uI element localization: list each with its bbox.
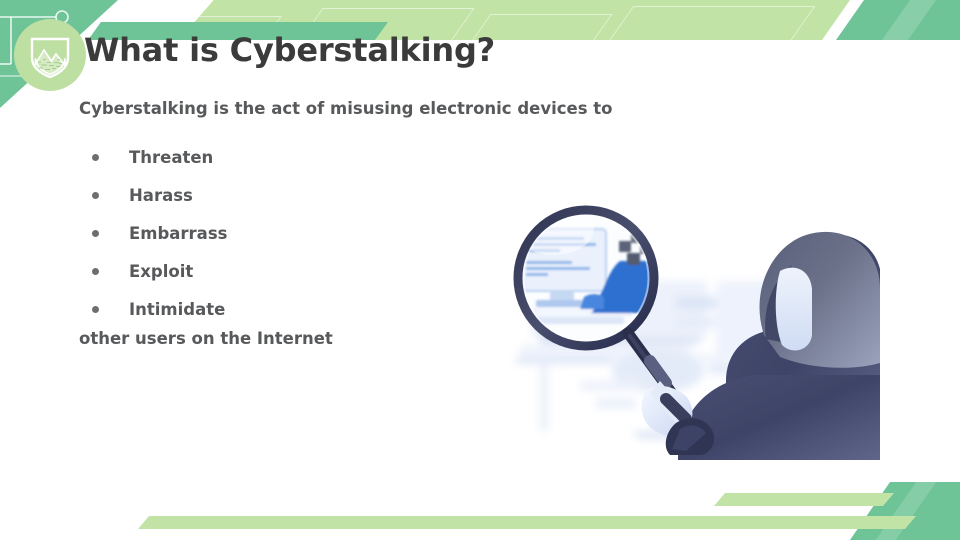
bottom-short-green-bar-upper bbox=[714, 493, 894, 506]
list-item-label: Intimidate bbox=[129, 300, 225, 319]
list-item: Exploit bbox=[79, 252, 499, 290]
page-title: What is Cyberstalking? bbox=[84, 31, 784, 69]
bullet-dot-icon bbox=[92, 230, 99, 237]
bottom-short-green-bar-lower bbox=[786, 516, 916, 529]
list-item: Threaten bbox=[79, 138, 499, 176]
bullet-dot-icon bbox=[92, 306, 99, 313]
hooded-figure-with-magnifier-illustration bbox=[480, 185, 880, 460]
closing-paragraph: other users on the Internet bbox=[79, 329, 333, 348]
bottom-right-green-wedge bbox=[850, 482, 960, 540]
top-right-green-parallelogram bbox=[836, 0, 960, 40]
list-item-label: Harass bbox=[129, 186, 193, 205]
list-item: Embarrass bbox=[79, 214, 499, 252]
bullet-list: Threaten Harass Embarrass Exploit Intimi… bbox=[79, 138, 499, 328]
shield-mountain-icon bbox=[25, 30, 75, 80]
logo-badge bbox=[14, 19, 86, 91]
bullet-dot-icon bbox=[92, 192, 99, 199]
list-item: Intimidate bbox=[79, 290, 499, 328]
bullet-dot-icon bbox=[92, 268, 99, 275]
bullet-dot-icon bbox=[92, 154, 99, 161]
magnifying-glass-icon bbox=[514, 203, 676, 399]
bar-highlight bbox=[882, 0, 936, 40]
slide-canvas: What is Cyberstalking? Cyberstalking is … bbox=[0, 0, 960, 540]
list-item-label: Threaten bbox=[129, 148, 213, 167]
bar-highlight bbox=[876, 482, 937, 540]
list-item-label: Embarrass bbox=[129, 224, 227, 243]
bottom-long-green-bar bbox=[138, 516, 878, 529]
bottom-decoration-band bbox=[0, 470, 960, 540]
list-item-label: Exploit bbox=[129, 262, 193, 281]
list-item: Harass bbox=[79, 176, 499, 214]
lead-paragraph: Cyberstalking is the act of misusing ele… bbox=[79, 99, 613, 118]
